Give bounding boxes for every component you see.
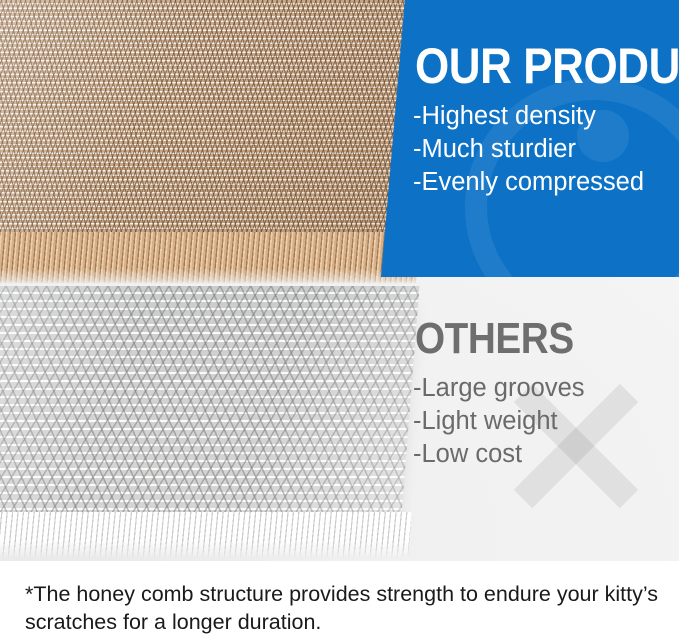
photo-area: OUR PRODUCT -Highest density -Much sturd… bbox=[0, 0, 679, 561]
product-comparison-image: OUR PRODUCT -Highest density -Much sturd… bbox=[0, 0, 679, 643]
our-product-bullet-3: -Evenly compressed bbox=[413, 166, 644, 199]
others-bullet-list: -Large grooves -Light weight -Low cost bbox=[413, 372, 585, 471]
others-bullet-3: -Low cost bbox=[413, 438, 585, 471]
our-product-material-corrugated-edge bbox=[0, 232, 420, 284]
caption-text: *The honey comb structure provides stren… bbox=[25, 581, 665, 637]
others-honeycomb-material bbox=[0, 286, 419, 526]
our-product-honeycomb-material bbox=[0, 0, 428, 242]
caption-area: *The honey comb structure provides stren… bbox=[0, 561, 679, 643]
others-heading: OTHERS bbox=[415, 317, 574, 361]
our-product-heading: OUR PRODUCT bbox=[415, 41, 679, 91]
others-bullet-1: -Large grooves bbox=[413, 372, 585, 405]
others-material-frayed-edge bbox=[0, 512, 412, 558]
others-bullet-2: -Light weight bbox=[413, 405, 585, 438]
our-product-bullet-1: -Highest density bbox=[413, 100, 644, 133]
our-product-bullet-2: -Much sturdier bbox=[413, 133, 644, 166]
our-product-bullet-list: -Highest density -Much sturdier -Evenly … bbox=[413, 100, 644, 199]
